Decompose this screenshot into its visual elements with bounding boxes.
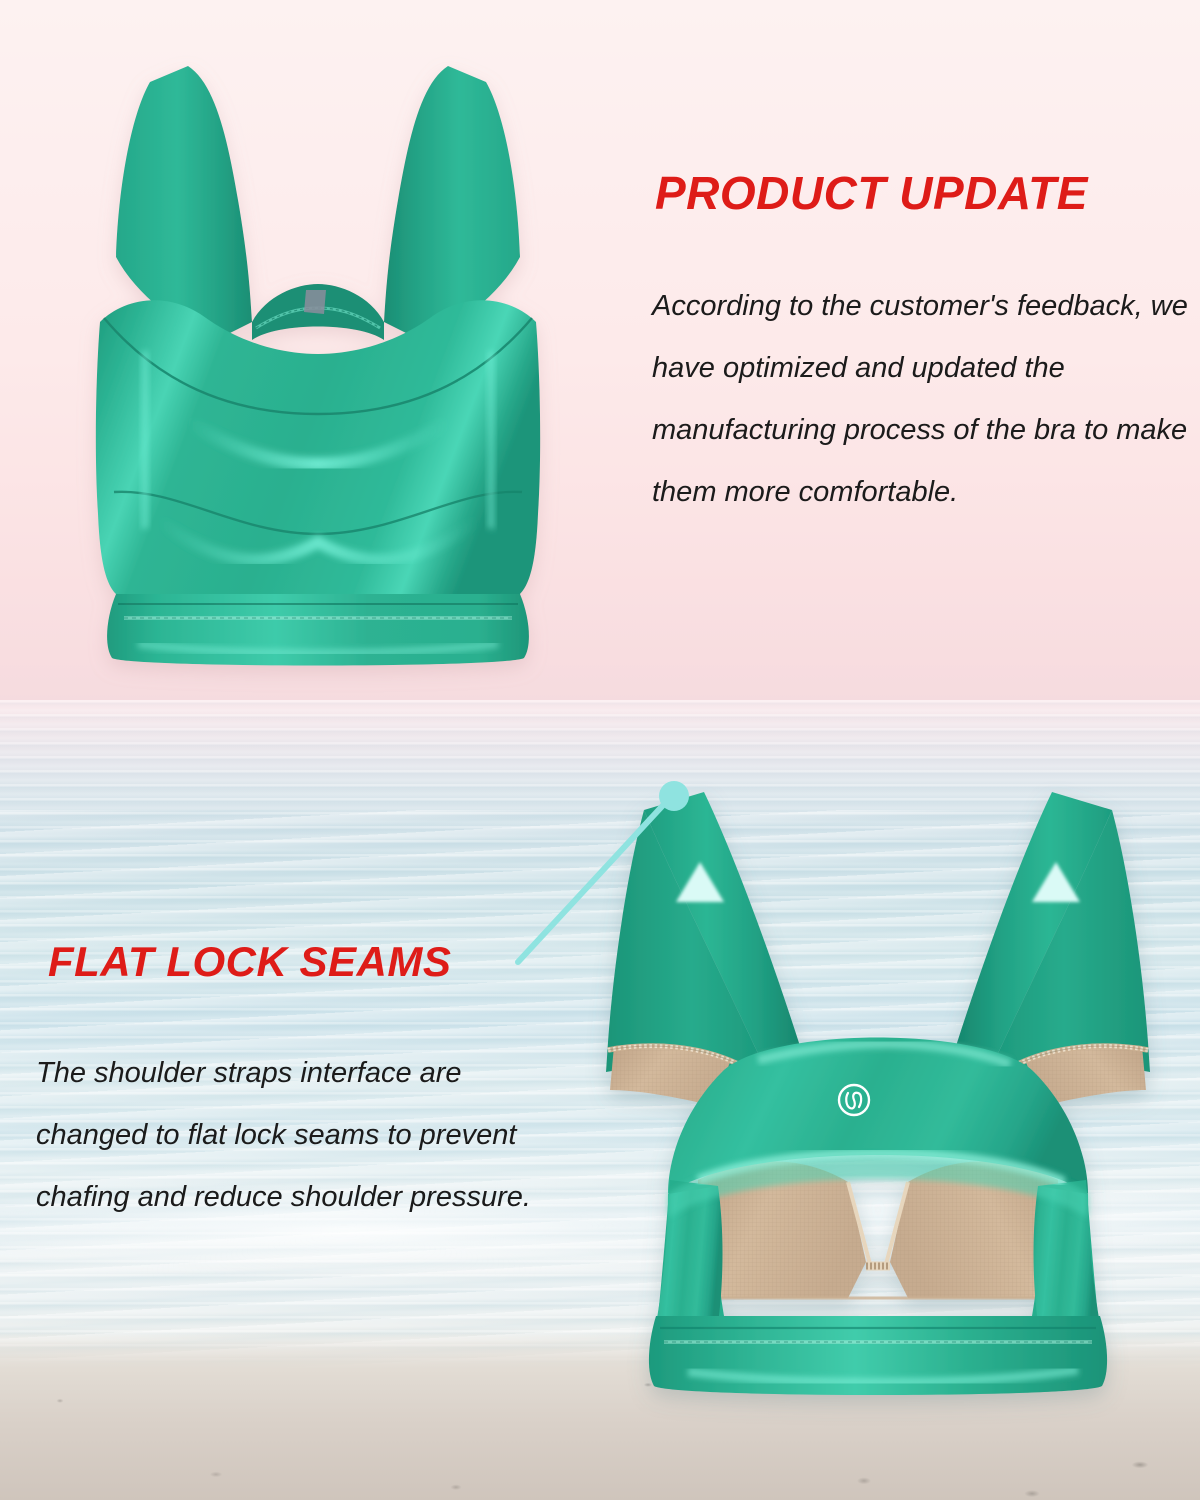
flat-lock-seams-body: The shoulder straps interface are change… <box>36 1042 576 1228</box>
infographic-page: PRODUCT UPDATE According to the customer… <box>0 0 1200 1500</box>
flat-lock-seams-heading: FLAT LOCK SEAMS <box>48 938 451 986</box>
product-update-heading: PRODUCT UPDATE <box>655 166 1088 220</box>
product-image-front-view <box>38 22 598 672</box>
product-update-body: According to the customer's feedback, we… <box>652 275 1197 523</box>
product-image-back-view <box>548 750 1200 1410</box>
